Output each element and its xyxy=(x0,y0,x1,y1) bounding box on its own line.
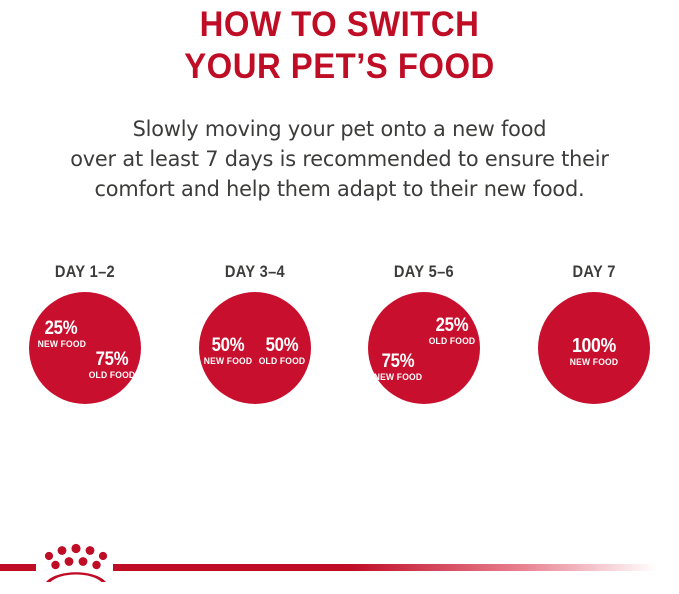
pie-chart-day-5-6: 25% OLD FOOD 75% NEW FOOD xyxy=(368,292,480,404)
page-title-line-2: YOUR PET’S FOOD xyxy=(20,46,658,88)
infographic-page: { "title": { "line1": "HOW TO SWITCH", "… xyxy=(0,0,679,594)
intro-line-1: Slowly moving your pet onto a new food xyxy=(10,115,669,145)
footer-rule-right xyxy=(113,564,679,571)
pie-chart-day-1-2: 25% NEW FOOD 75% OLD FOOD xyxy=(29,292,141,404)
day-label-2: DAY 3–4 xyxy=(225,262,285,282)
transition-schedule-chart-row: DAY 1–2 25% NEW FOOD 75% OLD FOOD DAY 3–… xyxy=(0,262,679,432)
step-day-1-2: DAY 1–2 25% NEW FOOD 75% OLD FOOD xyxy=(5,262,165,404)
day-label-1: DAY 1–2 xyxy=(55,262,115,282)
pie-chart-day-3-4: 50% NEW FOOD 50% OLD FOOD xyxy=(199,292,311,404)
royal-canin-crown-logo xyxy=(43,542,109,584)
intro-line-2: over at least 7 days is recommended to e… xyxy=(10,145,669,175)
day-label-3: DAY 5–6 xyxy=(394,262,454,282)
page-title-line-1: HOW TO SWITCH xyxy=(20,4,658,46)
footer-rule-left xyxy=(0,564,36,571)
intro-line-3: comfort and help them adapt to their new… xyxy=(10,175,669,205)
intro-paragraph: Slowly moving your pet onto a new food o… xyxy=(0,115,679,205)
pie-disc xyxy=(368,292,480,404)
step-day-3-4: DAY 3–4 50% NEW FOOD 50% OLD FOOD xyxy=(175,262,335,404)
step-day-7: DAY 7 100% NEW FOOD xyxy=(514,262,674,404)
footer xyxy=(0,540,679,594)
pie-disc xyxy=(199,292,311,404)
page-title: HOW TO SWITCH YOUR PET’S FOOD xyxy=(0,4,679,88)
step-day-5-6: DAY 5–6 25% OLD FOOD 75% NEW FOOD xyxy=(344,262,504,404)
pie-disc xyxy=(538,292,650,404)
pie-chart-day-7: 100% NEW FOOD xyxy=(538,292,650,404)
pie-disc xyxy=(29,292,141,404)
day-label-4: DAY 7 xyxy=(573,262,616,282)
